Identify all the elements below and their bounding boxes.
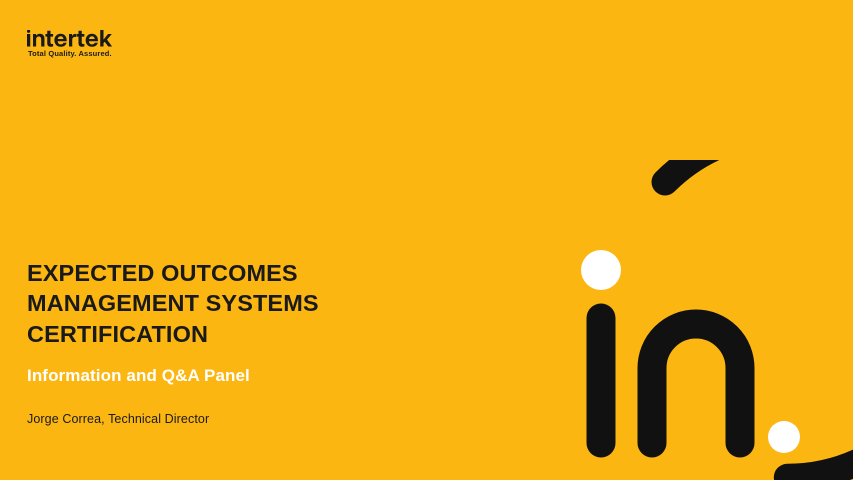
slide-text-block: EXPECTED OUTCOMES MANAGEMENT SYSTEMS CER… bbox=[27, 258, 447, 427]
presentation-slide: Total Quality. Assured. EXPECTED OUTCOME… bbox=[0, 0, 853, 480]
logo-tagline: Total Quality. Assured. bbox=[28, 50, 237, 58]
intertek-wordmark-icon bbox=[27, 30, 127, 47]
presenter-name: Jorge Correa, Technical Director bbox=[27, 412, 447, 427]
page-subtitle: Information and Q&A Panel bbox=[27, 366, 447, 386]
page-title: EXPECTED OUTCOMES MANAGEMENT SYSTEMS CER… bbox=[27, 258, 447, 349]
intertek-logo: Total Quality. Assured. bbox=[27, 30, 237, 58]
intertek-in-circle-mark-icon bbox=[470, 160, 853, 480]
